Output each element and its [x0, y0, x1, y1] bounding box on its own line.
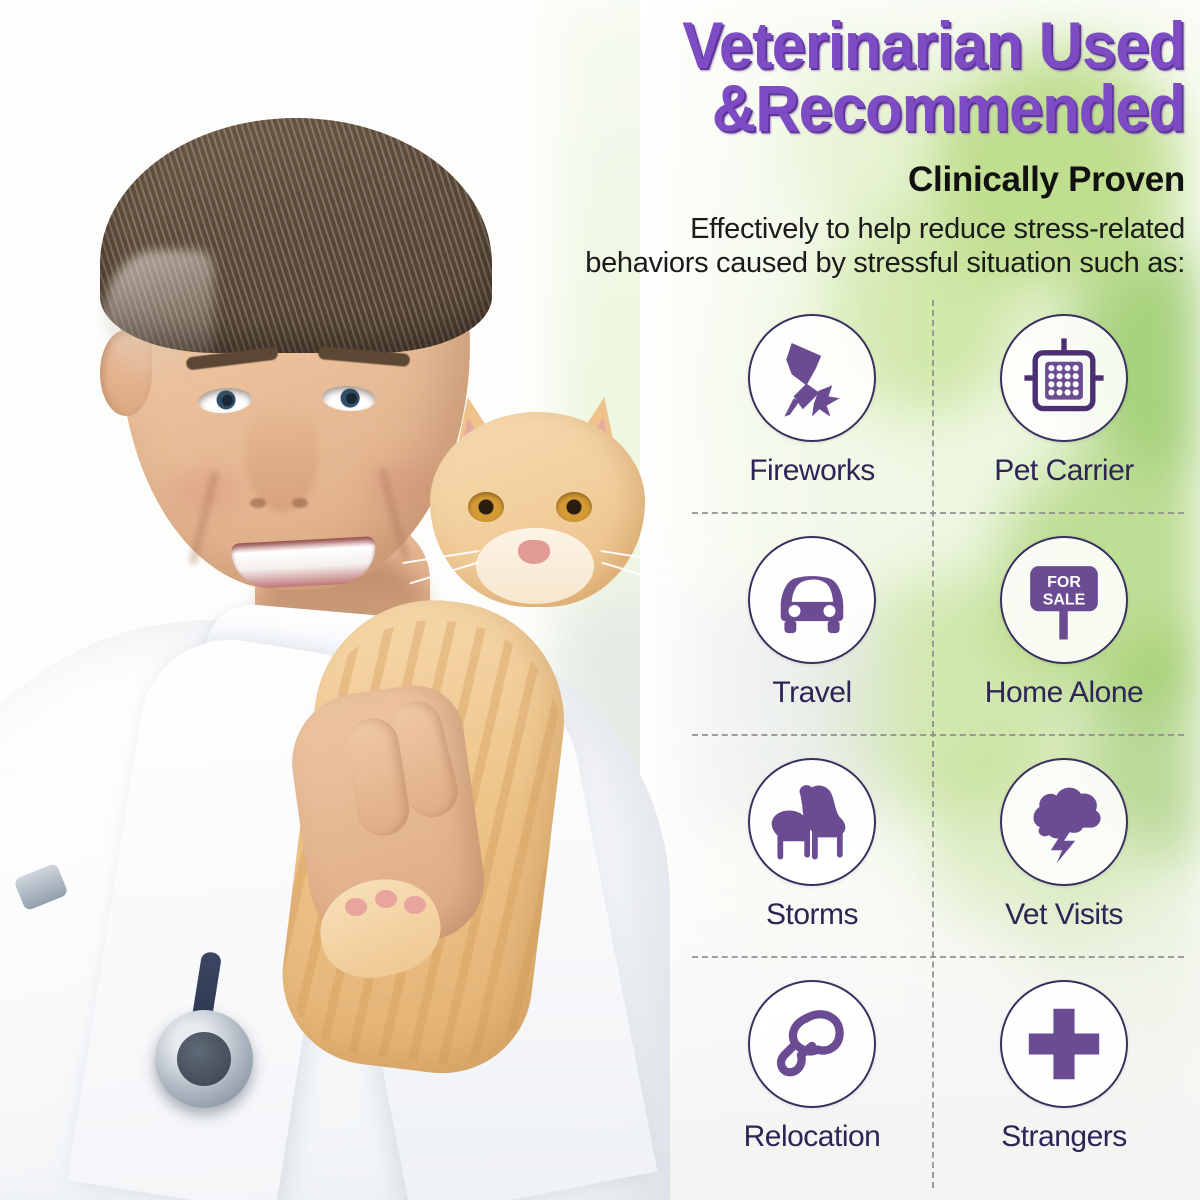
icon-circle: [748, 980, 876, 1108]
icon-circle: [1000, 314, 1128, 442]
grid-item-label: Vet Visits: [1005, 898, 1123, 932]
grid-item-label: Pet Carrier: [994, 454, 1134, 488]
grid-item-label: Travel: [772, 676, 851, 710]
grid-item-pet-carrier[interactable]: Pet Carrier: [944, 314, 1184, 526]
kitten-eye-right: [556, 492, 592, 522]
paw-pad: [375, 890, 397, 908]
pupil-right: [346, 393, 357, 404]
grid-item-relocation[interactable]: Relocation: [692, 980, 932, 1192]
body-copy: Effectively to help reduce stress-relate…: [480, 212, 1185, 280]
grid-divider-vertical: [932, 300, 934, 1188]
storm-cloud-lightning-icon: [1017, 775, 1111, 869]
nostril-right: [292, 498, 308, 508]
grid-item-fireworks[interactable]: Fireworks: [692, 314, 932, 526]
icon-circle: [1000, 980, 1128, 1108]
grid-item-home-alone[interactable]: FOR SALE Home Alone: [944, 536, 1184, 748]
grid-item-label: Storms: [766, 898, 858, 932]
subheading: Clinically Proven: [540, 160, 1185, 200]
headline-line-2: &Recommended: [520, 77, 1185, 140]
icon-circle: [748, 758, 876, 886]
stress-situations-grid: Fireworks: [692, 300, 1184, 1188]
grid-item-vet-visits[interactable]: Vet Visits: [944, 758, 1184, 970]
icon-circle: FOR SALE: [1000, 536, 1128, 664]
car-icon: [766, 554, 858, 646]
paw-pad: [404, 896, 426, 914]
icon-circle: [748, 536, 876, 664]
grid-item-label: Fireworks: [749, 454, 875, 488]
stethoscope-chestpiece: [155, 1010, 253, 1108]
for-sale-sign-icon: FOR SALE: [1017, 553, 1111, 647]
paw-pad: [345, 898, 367, 916]
grid-item-label: Home Alone: [985, 676, 1143, 710]
nose: [246, 400, 318, 512]
grid-item-strangers[interactable]: Strangers: [944, 980, 1184, 1192]
sign-line-1: FOR: [1047, 574, 1081, 591]
kitten-eye-left: [468, 492, 504, 522]
pet-carrier-icon: [1019, 333, 1109, 423]
nostril-left: [250, 498, 266, 508]
pacifier-icon: [766, 998, 858, 1090]
grid-item-travel[interactable]: Travel: [692, 536, 932, 748]
grid-item-storms[interactable]: Storms: [692, 758, 932, 970]
cheek-right: [366, 462, 436, 508]
sign-line-2: SALE: [1043, 592, 1086, 609]
product-infographic: Veterinarian Used &Recommended Clinicall…: [0, 0, 1200, 1200]
body-line-1: Effectively to help reduce stress-relate…: [480, 212, 1185, 246]
grid-item-label: Strangers: [1001, 1120, 1127, 1154]
medical-cross-icon: [1020, 1000, 1108, 1088]
icon-circle: [1000, 758, 1128, 886]
grid-item-label: Relocation: [744, 1120, 881, 1154]
icon-circle: [748, 314, 876, 442]
kitten-nose: [518, 540, 550, 564]
pupil-left: [222, 395, 233, 406]
dog-and-cat-icon: [764, 774, 860, 870]
body-line-2: behaviors caused by stressful situation …: [480, 246, 1185, 280]
firework-rocket-icon: [766, 332, 858, 424]
page-title: Veterinarian Used &Recommended: [520, 14, 1185, 139]
